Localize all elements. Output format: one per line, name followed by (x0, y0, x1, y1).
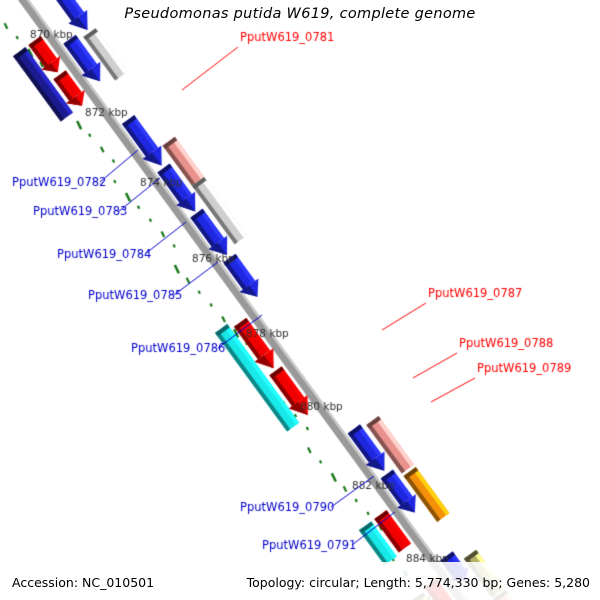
genome-stats-label: Topology: circular; Length: 5,774,330 bp… (247, 575, 590, 590)
genome-map-canvas[interactable] (0, 0, 600, 600)
genome-map-viewer[interactable]: Pseudomonas putida W619, complete genome… (0, 0, 600, 600)
page-title: Pseudomonas putida W619, complete genome (0, 6, 600, 22)
accession-label: Accession: NC_010501 (12, 575, 154, 590)
